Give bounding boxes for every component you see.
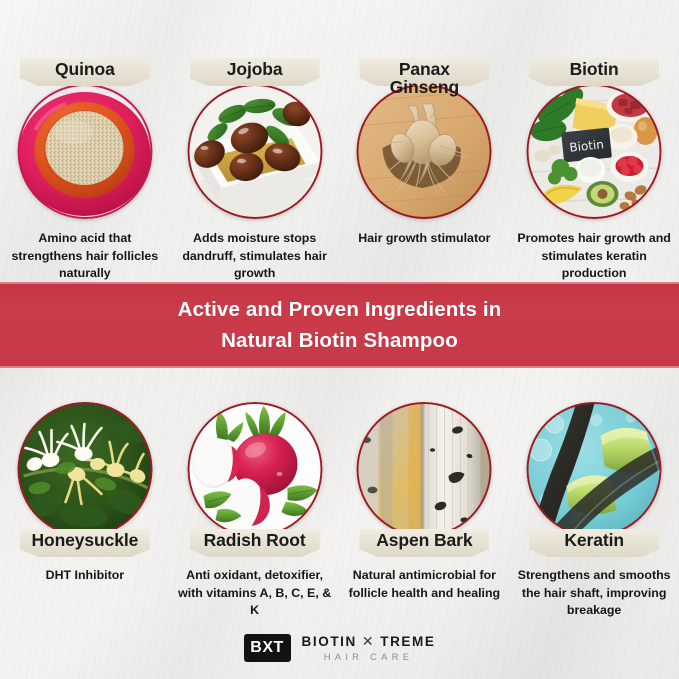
- honeysuckle-flowers-photo: [17, 402, 152, 537]
- brand-tagline: HAIR CARE: [302, 652, 436, 663]
- ingredient-description-aspen-bark: Natural antimicrobial for follicle healt…: [345, 567, 503, 602]
- quinoa-bowl-photo: [17, 84, 152, 219]
- ingredient-title-aspen-bark: Aspen Bark: [334, 532, 514, 550]
- ingredient-card-aspen-bark: Aspen Bark Natural antimicrobial for fol…: [340, 381, 510, 616]
- ingredient-title-panax-ginseng: Panax Ginseng: [334, 61, 514, 97]
- brand-footer: BXT BIOTIN ✕ TREME HAIR CARE: [0, 617, 679, 679]
- ingredient-card-honeysuckle: Honeysuckle DHT Inhibitor: [0, 381, 170, 616]
- ginseng-root-illustration: [357, 84, 492, 219]
- ingredient-card-keratin: Keratin Strengthens and smooths the hair…: [509, 381, 679, 616]
- ingredient-description-panax-ginseng: Hair growth stimulator: [345, 230, 503, 248]
- headline-text: Active and Proven Ingredients in Natural…: [178, 294, 502, 356]
- aspen-bark-photo: [357, 402, 492, 537]
- bxt-logo-mark-text: BXT: [250, 639, 284, 657]
- ingredient-title-keratin: Keratin: [504, 532, 679, 550]
- radish-illustration: [187, 402, 322, 537]
- honeysuckle-illustration: [17, 402, 152, 537]
- ingredient-description-jojoba: Adds moisture stops dandruff, stimulates…: [176, 230, 334, 283]
- ingredient-title-biotin: Biotin: [504, 61, 679, 79]
- quinoa-bowl-illustration: [17, 84, 152, 219]
- jojoba-seeds-illustration: [187, 84, 322, 219]
- ingredient-description-radish-root: Anti oxidant, detoxifier, with vitamins …: [176, 567, 334, 620]
- ingredient-title-quinoa: Quinoa: [0, 61, 175, 79]
- bxt-logo-mark: BXT: [244, 634, 291, 662]
- ingredient-card-radish-root: Radish Root Anti oxidant, detoxifier, wi…: [170, 381, 340, 616]
- ingredient-title-jojoba: Jojoba: [165, 61, 345, 79]
- biotin-foods-illustration: Biotin: [527, 84, 662, 219]
- panax-ginseng-root-photo: [357, 84, 492, 219]
- ingredient-description-keratin: Strengthens and smooths the hair shaft, …: [515, 567, 673, 620]
- ingredients-infographic: Quinoa: [0, 0, 679, 679]
- brand-part2: TREME: [380, 634, 435, 649]
- ingredient-card-jojoba: Jojoba: [170, 52, 340, 282]
- brand-wordmark: BIOTIN ✕ TREME HAIR CARE: [302, 633, 436, 663]
- x-icon: ✕: [362, 633, 375, 650]
- ingredient-card-biotin: Biotin: [509, 52, 679, 282]
- headline-banner: Active and Proven Ingredients in Natural…: [0, 282, 679, 368]
- ingredient-description-honeysuckle: DHT Inhibitor: [6, 567, 164, 585]
- bottom-ingredient-row: Honeysuckle DHT Inhibitor: [0, 381, 679, 616]
- ingredient-description-biotin: Promotes hair growth and stimulates kera…: [515, 230, 673, 283]
- ingredient-card-panax-ginseng: Panax Ginseng: [340, 52, 510, 282]
- radish-root-photo: [187, 402, 322, 537]
- ingredient-card-quinoa: Quinoa: [0, 52, 170, 282]
- ingredient-description-quinoa: Amino acid that strengthens hair follicl…: [6, 230, 164, 283]
- aspen-bark-illustration: [357, 402, 492, 537]
- brand-part1: BIOTIN: [302, 634, 357, 649]
- ingredient-title-honeysuckle: Honeysuckle: [0, 532, 175, 550]
- keratin-hair-cuticle-photo: [527, 402, 662, 537]
- brand-name-line: BIOTIN ✕ TREME: [302, 633, 436, 650]
- biotin-foods-photo: Biotin: [527, 84, 662, 219]
- jojoba-seeds-photo: [187, 84, 322, 219]
- top-ingredient-row: Quinoa: [0, 52, 679, 282]
- keratin-illustration: [527, 402, 662, 537]
- ingredient-title-radish-root: Radish Root: [165, 532, 345, 550]
